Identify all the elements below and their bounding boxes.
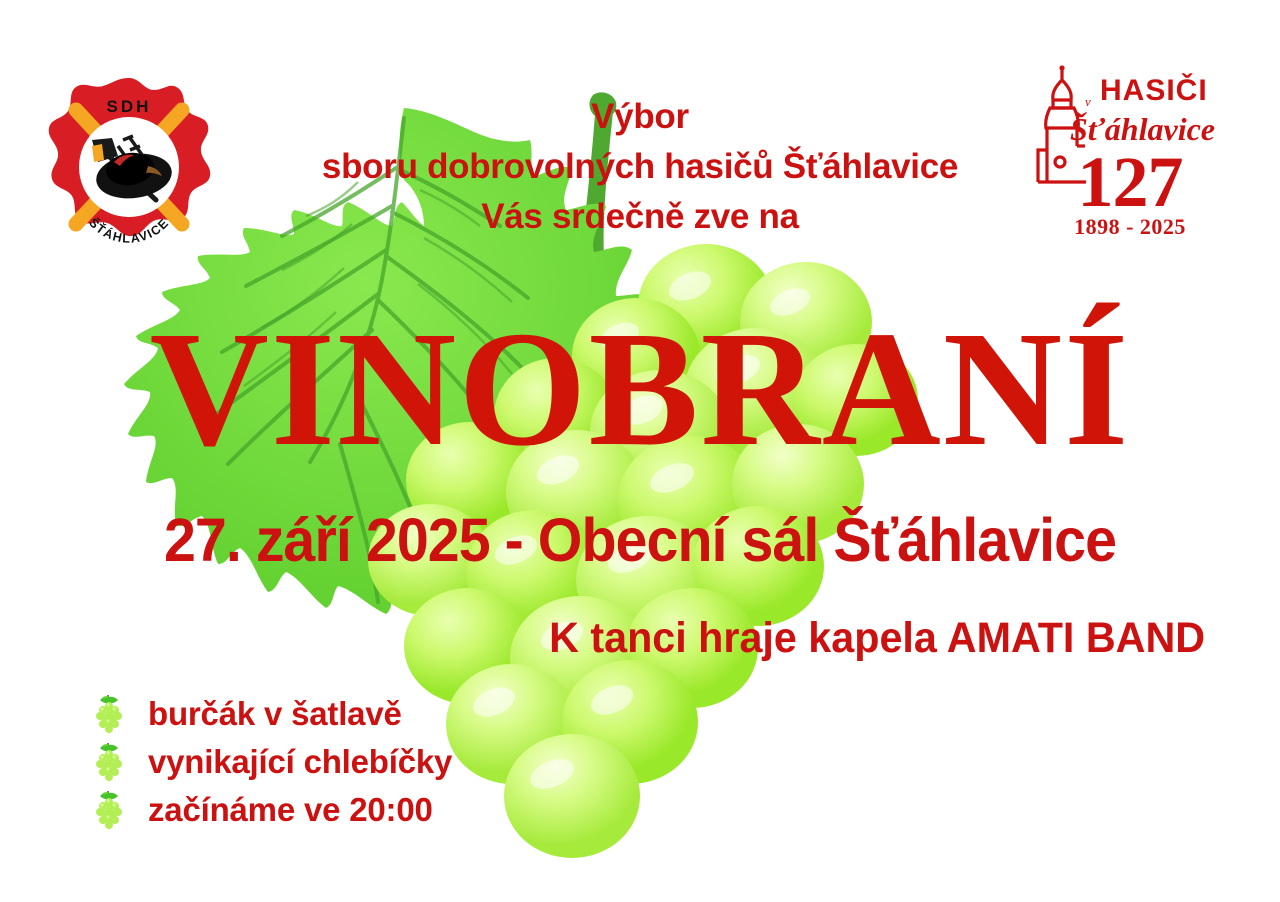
event-title: VINOBRANÍ xyxy=(0,306,1280,471)
grape-cluster-icon xyxy=(88,692,130,736)
list-item-label: vynikající chlebíčky xyxy=(130,742,452,782)
header-line-2: sboru dobrovolných hasičů Šťáhlavice xyxy=(0,142,1280,192)
grape-cluster-icon xyxy=(88,788,130,832)
list-item: vynikající chlebíčky xyxy=(88,740,608,784)
vinobrani-poster: SDH ŠŤÁHLAVICE HASIČI v xyxy=(0,0,1280,902)
grape-cluster-icon xyxy=(88,740,130,784)
header-line-1: Výbor xyxy=(0,92,1280,142)
list-item: burčák v šatlavě xyxy=(88,692,608,736)
list-item-label: začínáme ve 20:00 xyxy=(130,790,433,830)
header-line-3: Vás srdečně zve na xyxy=(0,192,1280,242)
invitation-header: Výbor sboru dobrovolných hasičů Šťáhlavi… xyxy=(0,92,1280,242)
list-item: začínáme ve 20:00 xyxy=(88,788,608,832)
event-band: K tanci hraje kapela AMATI BAND xyxy=(51,612,1280,664)
event-details-list: burčák v šatlavě xyxy=(88,692,608,836)
event-date-venue: 27. září 2025 - Obecní sál Šťáhlavice xyxy=(38,505,1241,575)
list-item-label: burčák v šatlavě xyxy=(130,694,402,734)
